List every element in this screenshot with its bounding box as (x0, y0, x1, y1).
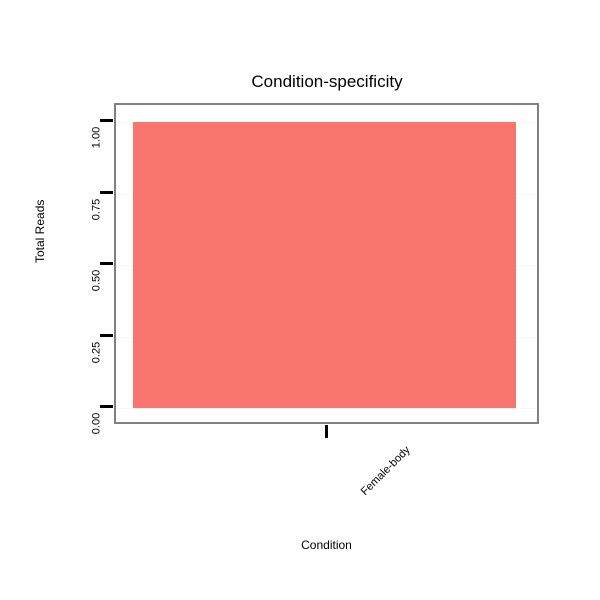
panel-inner (116, 105, 537, 422)
chart-canvas: Condition-specificity 0.00 0.25 0.50 0.7… (0, 0, 600, 600)
ytick-label-0: 0.00 (92, 407, 103, 441)
ytick-label-100: 1.00 (92, 121, 103, 155)
chart-title: Condition-specificity (0, 72, 600, 92)
ytick-label-25: 0.25 (92, 336, 103, 370)
y-axis-title: Total Reads (34, 200, 47, 263)
chart-title-text: Condition-specificity (251, 72, 402, 92)
plot-panel (114, 103, 539, 424)
gridline-y-0 (116, 408, 537, 409)
x-axis-title: Condition (114, 538, 539, 552)
xtick-mark-female-body (325, 425, 328, 438)
bar-female-body[interactable] (133, 122, 516, 408)
xtick-label-female-body: Female-body (359, 444, 413, 498)
ytick-label-50: 0.50 (92, 264, 103, 298)
ytick-label-75: 0.75 (92, 193, 103, 227)
